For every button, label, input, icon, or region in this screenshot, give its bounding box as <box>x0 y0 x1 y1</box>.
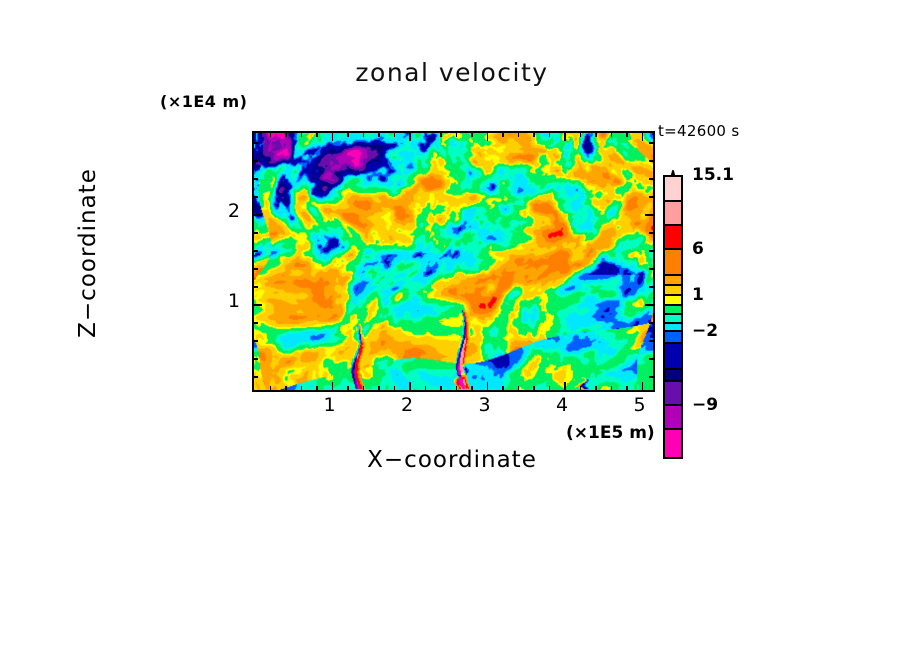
x-axis-minor-tick <box>502 133 504 137</box>
colorbar-divider <box>663 404 683 406</box>
colorbar-segment <box>663 225 683 249</box>
y-axis-minor-tick <box>649 178 653 180</box>
x-axis-minor-tick <box>440 386 442 390</box>
x-axis-minor-tick <box>363 133 365 137</box>
y-axis-minor-tick <box>254 178 258 180</box>
x-axis-tick <box>564 382 566 390</box>
x-axis-minor-tick <box>518 386 520 390</box>
colorbar-label: 15.1 <box>692 165 734 185</box>
x-axis-minor-tick <box>347 133 349 137</box>
y-axis-minor-tick <box>254 142 258 144</box>
x-axis-minor-tick <box>285 386 287 390</box>
x-axis-minor-tick <box>285 133 287 137</box>
x-axis-title: X−coordinate <box>0 447 904 473</box>
contour-plot-area <box>252 131 655 392</box>
y-axis-tick <box>645 214 653 216</box>
colorbar-divider <box>663 342 683 344</box>
y-axis-tick-label: 2 <box>218 200 240 222</box>
colorbar-segment <box>663 381 683 405</box>
x-axis-tick <box>487 382 489 390</box>
y-axis-minor-tick <box>649 268 653 270</box>
colorbar-divider <box>663 248 683 250</box>
x-axis-minor-tick <box>533 386 535 390</box>
x-axis-minor-tick <box>626 386 628 390</box>
x-axis-minor-tick <box>270 386 272 390</box>
x-axis-minor-tick <box>502 386 504 390</box>
x-axis-tick-label: 4 <box>542 394 582 416</box>
y-axis-minor-tick <box>254 196 258 198</box>
y-axis-minor-tick <box>649 322 653 324</box>
colorbar-divider <box>663 304 683 306</box>
colorbar-divider <box>663 313 683 315</box>
x-axis-minor-tick <box>456 133 458 137</box>
y-axis-minor-tick <box>254 160 258 162</box>
x-axis-minor-tick <box>471 133 473 137</box>
x-axis-minor-tick <box>595 386 597 390</box>
x-axis-tick <box>487 133 489 141</box>
y-axis-minor-tick <box>254 250 258 252</box>
y-axis-minor-tick <box>649 142 653 144</box>
x-axis-tick-label: 2 <box>387 394 427 416</box>
x-axis-minor-tick <box>549 386 551 390</box>
colorbar-segment <box>663 175 683 201</box>
y-axis-minor-tick <box>649 358 653 360</box>
y-axis-tick-label: 1 <box>218 290 240 312</box>
x-axis-minor-tick <box>549 133 551 137</box>
x-axis-minor-tick <box>471 386 473 390</box>
colorbar-divider <box>663 274 683 276</box>
y-axis-minor-tick <box>649 376 653 378</box>
colorbar-divider <box>663 224 683 226</box>
x-axis-minor-tick <box>626 133 628 137</box>
y-axis-tick <box>254 214 262 216</box>
x-axis-tick <box>409 133 411 141</box>
y-axis-minor-tick <box>649 160 653 162</box>
x-axis-tick <box>642 133 644 141</box>
y-axis-minor-tick <box>254 340 258 342</box>
colorbar-segment <box>663 343 683 369</box>
y-axis-tick <box>645 304 653 306</box>
y-axis-tick <box>254 304 262 306</box>
y-axis-unit-label: (×1E4 m) <box>160 92 247 111</box>
x-axis-unit-label: (×1E5 m) <box>566 423 655 443</box>
x-axis-minor-tick <box>611 386 613 390</box>
x-axis-minor-tick <box>425 133 427 137</box>
x-axis-tick <box>642 382 644 390</box>
time-stamp-annotation: t=42600 s <box>658 122 739 140</box>
colorbar-divider <box>663 330 683 332</box>
x-axis-minor-tick <box>378 133 380 137</box>
x-axis-tick-label: 1 <box>310 394 350 416</box>
x-axis-minor-tick <box>394 386 396 390</box>
x-axis-minor-tick <box>394 133 396 137</box>
x-axis-minor-tick <box>425 386 427 390</box>
x-axis-minor-tick <box>316 133 318 137</box>
y-axis-minor-tick <box>254 376 258 378</box>
colorbar-divider <box>663 284 683 286</box>
y-axis-minor-tick <box>649 250 653 252</box>
y-axis-minor-tick <box>649 340 653 342</box>
y-axis-minor-tick <box>649 196 653 198</box>
y-axis-minor-tick <box>649 232 653 234</box>
x-axis-tick-label: 3 <box>465 394 505 416</box>
colorbar-divider <box>663 322 683 324</box>
colorbar-segment <box>663 249 683 275</box>
x-axis-minor-tick <box>595 133 597 137</box>
figure-canvas: zonal velocity (×1E4 m) t=42600 s Z−coor… <box>0 0 904 654</box>
x-axis-minor-tick <box>533 133 535 137</box>
colorbar-segment <box>663 201 683 225</box>
x-axis-minor-tick <box>518 133 520 137</box>
x-axis-tick-label: 5 <box>620 394 660 416</box>
x-axis-minor-tick <box>611 133 613 137</box>
y-axis-minor-tick <box>649 286 653 288</box>
x-axis-minor-tick <box>301 133 303 137</box>
x-axis-tick <box>332 133 334 141</box>
colorbar-label: −9 <box>692 395 718 415</box>
colorbar-label: 1 <box>692 285 704 305</box>
colorbar <box>663 175 683 459</box>
x-axis-minor-tick <box>440 133 442 137</box>
y-axis-minor-tick <box>254 268 258 270</box>
y-axis-minor-tick <box>254 322 258 324</box>
x-axis-minor-tick <box>363 386 365 390</box>
x-axis-minor-tick <box>456 386 458 390</box>
colorbar-divider <box>663 428 683 430</box>
colorbar-divider <box>663 200 683 202</box>
colorbar-segment <box>663 405 683 429</box>
colorbar-divider <box>663 294 683 296</box>
colorbar-segment <box>663 429 683 459</box>
y-axis-minor-tick <box>254 232 258 234</box>
colorbar-divider <box>663 380 683 382</box>
x-axis-minor-tick <box>270 133 272 137</box>
x-axis-minor-tick <box>316 386 318 390</box>
colorbar-label: 6 <box>692 239 704 259</box>
colorbar-divider <box>663 368 683 370</box>
x-axis-tick <box>332 382 334 390</box>
y-axis-minor-tick <box>254 286 258 288</box>
x-axis-tick <box>564 133 566 141</box>
y-axis-title: Z−coordinate <box>75 103 101 403</box>
x-axis-minor-tick <box>378 386 380 390</box>
page-title: zonal velocity <box>0 58 904 87</box>
y-axis-minor-tick <box>254 358 258 360</box>
x-axis-minor-tick <box>580 133 582 137</box>
x-axis-minor-tick <box>301 386 303 390</box>
x-axis-tick <box>409 382 411 390</box>
x-axis-minor-tick <box>580 386 582 390</box>
velocity-field-heatmap <box>254 133 653 390</box>
x-axis-minor-tick <box>347 386 349 390</box>
colorbar-label: −2 <box>692 321 718 341</box>
